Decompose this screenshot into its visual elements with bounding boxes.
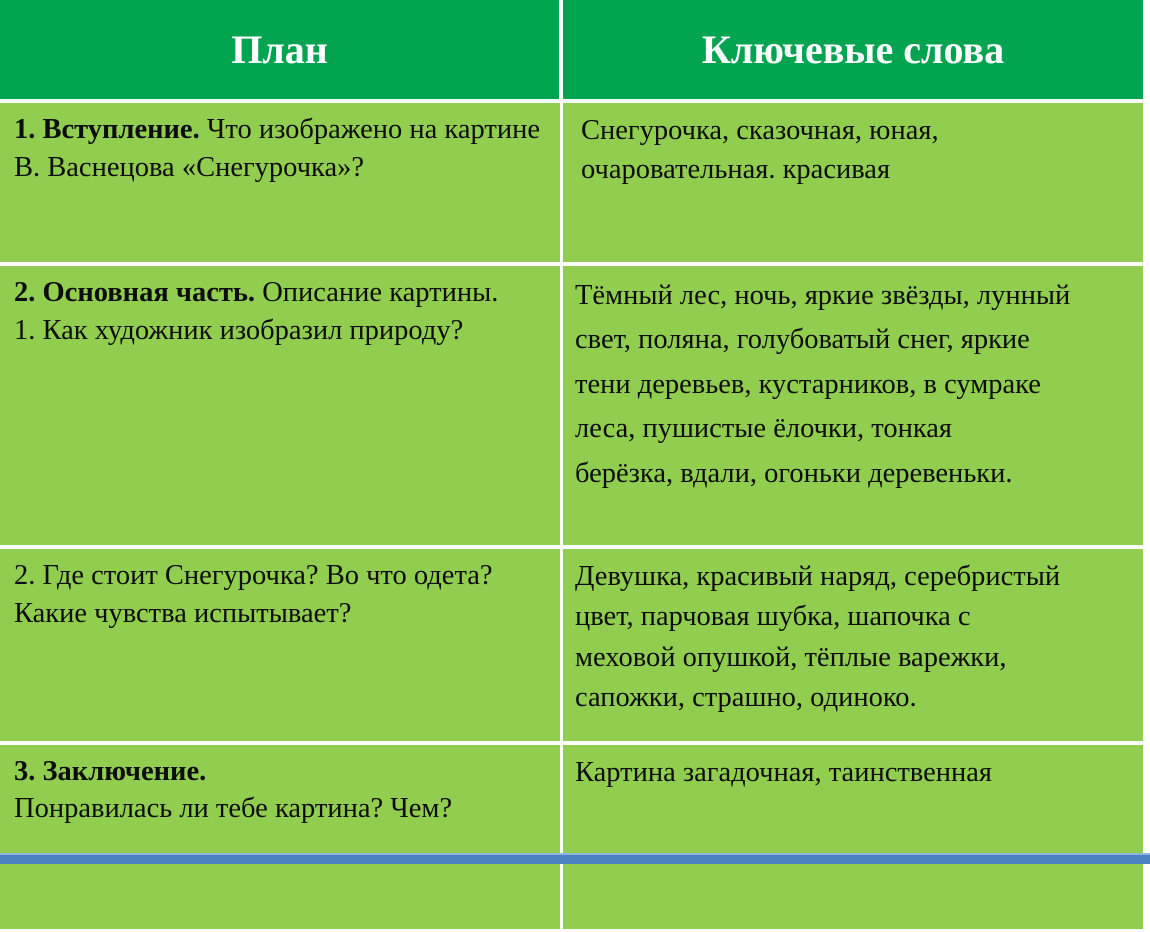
plan-cell-3: 2. Где стоит Снегурочка? Во что одета? К… [0,549,563,745]
plan-cell-2: 2. Основная часть. Описание картины. 1. … [0,266,563,549]
plan-cell-4-body: Понравилась ли тебе картина? Чем? [14,793,452,824]
keywords-cell-1: Снегурочка, сказочная, юная, очарователь… [563,103,1146,266]
keywords-cell-2: Тёмный лес, ночь, яркие звёзды, лунный с… [563,266,1146,549]
keywords-cell-4: Картина загадочная, таинственная [563,745,1146,932]
plan-cell-3-body: 2. Где стоит Снегурочка? Во что одета? К… [14,560,493,629]
plan-cell-3-text: 2. Где стоит Снегурочка? Во что одета? К… [14,557,550,633]
table-row: 2. Основная часть. Описание картины. 1. … [0,266,1146,549]
column-header-plan: План [0,0,563,103]
plan-cell-4-text: 3. Заключение. Понравилась ли тебе карти… [14,753,550,827]
keywords-cell-3: Девушка, красивый наряд, серебристый цве… [563,549,1146,745]
plan-cell-2-label: 2. Основная часть. [14,277,255,308]
keywords-cell-1-text: Снегурочка, сказочная, юная, очарователь… [577,111,1133,190]
plan-cell-4-label: 3. Заключение. [14,756,206,787]
plan-cell-1-text: 1. Вступление. Что изображено на картине… [14,111,550,187]
bottom-accent-bar [0,853,1150,864]
header-row: План Ключевые слова [0,0,1146,103]
table-header: План Ключевые слова [0,0,1146,103]
plan-cell-4: 3. Заключение. Понравилась ли тебе карти… [0,745,563,932]
table-row: 1. Вступление. Что изображено на картине… [0,103,1146,266]
table-row: 2. Где стоит Снегурочка? Во что одета? К… [0,549,1146,745]
table-row: 3. Заключение. Понравилась ли тебе карти… [0,745,1146,932]
keywords-cell-2-text: Тёмный лес, ночь, яркие звёзды, лунный с… [575,274,1133,496]
slide-canvas: План Ключевые слова 1. Вступление. Что и… [0,0,1150,864]
plan-cell-2-text: 2. Основная часть. Описание картины. 1. … [14,274,550,350]
keywords-cell-3-text: Девушка, красивый наряд, серебристый цве… [575,557,1133,719]
plan-cell-1-label: 1. Вступление. [14,114,200,145]
column-header-keywords: Ключевые слова [563,0,1146,103]
keywords-cell-4-text: Картина загадочная, таинственная [575,753,1133,792]
plan-cell-1: 1. Вступление. Что изображено на картине… [0,103,563,266]
plan-keywords-table: План Ключевые слова 1. Вступление. Что и… [0,0,1146,932]
table-body: 1. Вступление. Что изображено на картине… [0,103,1146,932]
